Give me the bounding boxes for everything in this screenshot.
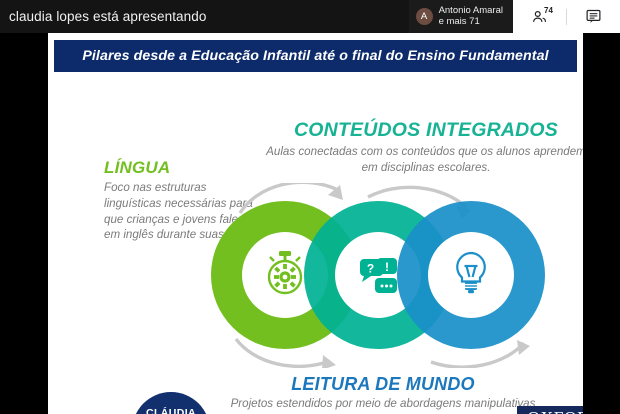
arrow-head-bottom-2: [517, 340, 530, 355]
page-title: Pilares desde a Educação Infantil até o …: [82, 48, 548, 64]
top-bar-right-controls: A Antonio Amaral e mais 71 74: [409, 0, 620, 33]
block-leitura-body: Projetos estendidos por meio de abordage…: [218, 396, 548, 414]
chat-button[interactable]: [567, 0, 620, 33]
claudia-lopes-logo: CLÁUDIA LOPES Education: [132, 392, 210, 414]
active-speaker-chip[interactable]: A Antonio Amaral e mais 71: [409, 0, 513, 33]
three-pillars-diagram: ? !: [188, 183, 568, 368]
oxford-university-press-logo: OXFORD UNIVERSITY PRESS: [517, 406, 583, 414]
block-conteudos-body: Aulas conectadas com os conteúdos que os…: [261, 144, 583, 176]
chat-icon: [585, 8, 602, 25]
block-lingua-heading: LÍNGUA: [104, 158, 264, 178]
ring-blue: [397, 201, 545, 349]
oxford-wordmark: OXFORD: [527, 410, 583, 414]
slide-title-band: Pilares desde a Educação Infantil até o …: [54, 40, 577, 72]
presentation-slide[interactable]: Pilares desde a Educação Infantil até o …: [48, 33, 583, 414]
block-leitura-de-mundo: LEITURA DE MUNDO Projetos estendidos por…: [218, 374, 548, 414]
participants-button[interactable]: 74: [513, 0, 566, 33]
block-conteudos-heading: CONTEÚDOS INTEGRADOS: [261, 119, 583, 142]
block-leitura-heading: LEITURA DE MUNDO: [218, 374, 548, 395]
meeting-controls-group: 74: [513, 0, 620, 33]
participants-count: 74: [544, 6, 553, 15]
speaker-names: Antonio Amaral e mais 71: [439, 6, 503, 28]
screen: claudia lopes está apresentando A Antoni…: [0, 0, 620, 414]
svg-text:!: !: [385, 260, 389, 274]
speaker-name: Antonio Amaral: [439, 6, 503, 17]
presenting-status-text: claudia lopes está apresentando: [0, 9, 207, 24]
avatar: A: [416, 8, 433, 25]
meeting-top-bar: claudia lopes está apresentando A Antoni…: [0, 0, 620, 33]
block-conteudos-integrados: CONTEÚDOS INTEGRADOS Aulas conectadas co…: [261, 119, 583, 176]
logo-line-1: CLÁUDIA: [132, 407, 210, 414]
speaker-others: e mais 71: [439, 17, 503, 28]
arrow-head-bottom-1: [322, 355, 336, 368]
svg-text:?: ?: [367, 262, 374, 276]
